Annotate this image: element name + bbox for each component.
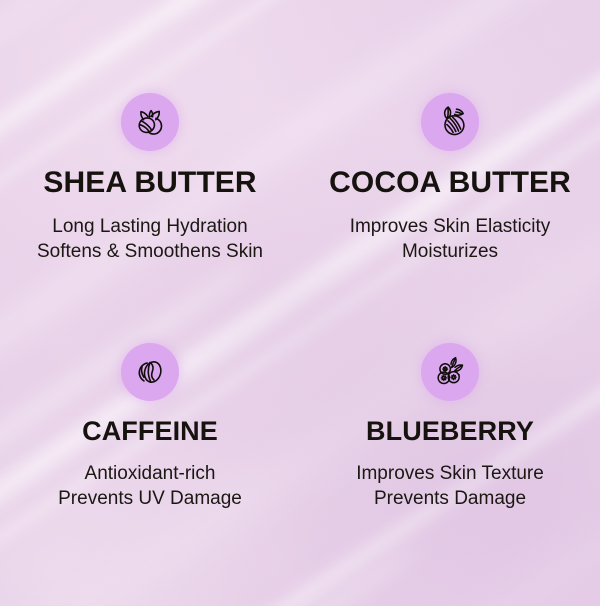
ingredient-benefit-line: Improves Skin Elasticity <box>350 214 551 239</box>
ingredient-benefit-line: Prevents Damage <box>356 486 544 511</box>
blueberry-icon <box>430 352 470 392</box>
ingredient-card-shea-butter: SHEA BUTTER Long Lasting Hydration Softe… <box>0 0 300 303</box>
ingredient-benefit-line: Prevents UV Damage <box>58 486 242 511</box>
ingredient-benefit-line: Antioxidant-rich <box>58 461 242 486</box>
ingredient-title: SHEA BUTTER <box>43 168 256 198</box>
ingredient-title: COCOA BUTTER <box>329 168 571 198</box>
ingredient-card-blueberry: BLUEBERRY Improves Skin Texture Prevents… <box>300 303 600 606</box>
ingredient-title: BLUEBERRY <box>366 418 534 445</box>
ingredient-badge-caffeine <box>121 343 179 401</box>
ingredient-badge-cocoa-butter <box>421 93 479 151</box>
cocoa-pod-icon <box>430 102 470 142</box>
ingredient-benefits: Antioxidant-rich Prevents UV Damage <box>58 461 242 512</box>
ingredient-benefit-line: Long Lasting Hydration <box>37 214 263 239</box>
ingredient-benefit-line: Moisturizes <box>350 239 551 264</box>
ingredient-card-caffeine: CAFFEINE Antioxidant-rich Prevents UV Da… <box>0 303 300 606</box>
ingredient-benefit-line: Softens & Smoothens Skin <box>37 239 263 264</box>
ingredient-benefits: Improves Skin Elasticity Moisturizes <box>350 214 551 265</box>
ingredient-card-cocoa-butter: COCOA BUTTER Improves Skin Elasticity Mo… <box>300 0 600 303</box>
shea-nut-icon <box>130 102 170 142</box>
ingredient-benefits: Long Lasting Hydration Softens & Smoothe… <box>37 214 263 265</box>
ingredient-benefits-graphic: SHEA BUTTER Long Lasting Hydration Softe… <box>0 0 600 606</box>
ingredient-badge-blueberry <box>421 343 479 401</box>
ingredient-title: CAFFEINE <box>82 418 218 445</box>
coffee-bean-icon <box>130 352 170 392</box>
ingredient-benefits: Improves Skin Texture Prevents Damage <box>356 461 544 512</box>
ingredient-badge-shea-butter <box>121 93 179 151</box>
ingredient-grid: SHEA BUTTER Long Lasting Hydration Softe… <box>0 0 600 606</box>
ingredient-benefit-line: Improves Skin Texture <box>356 461 544 486</box>
